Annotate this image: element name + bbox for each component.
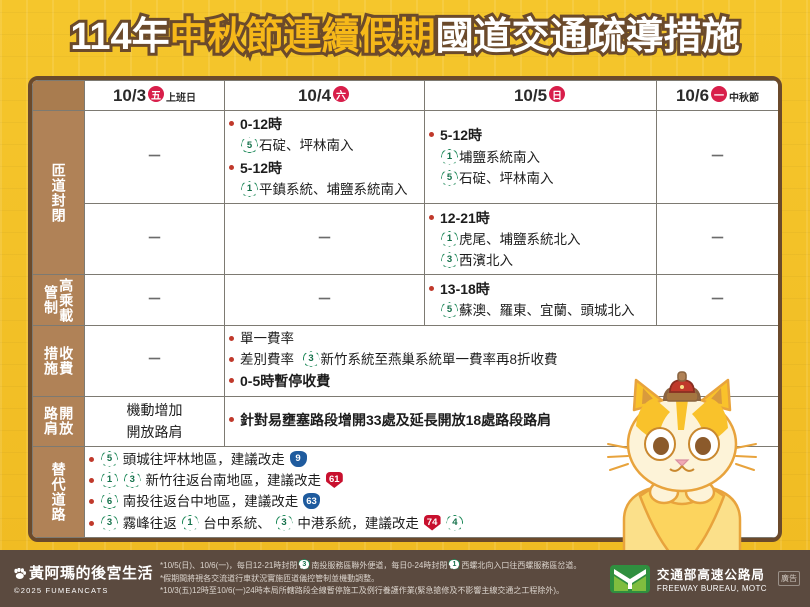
agency-text: 交通部高速公路局 FREEWAY BUREAU, MOTC: [657, 564, 767, 593]
provincial-badge-63-icon: 63: [303, 493, 320, 509]
table-row-ramp-closure-2: － － 12-21時 1虎尾、埔鹽系統北入 3西濱北入 －: [33, 204, 779, 275]
provincial-badge-9-icon: 9: [290, 451, 307, 467]
freeway-badge-3-icon: 3: [303, 351, 320, 367]
cell-r6-merged: 5 頭城往坪林地區，建議改走 9 1 3 新竹往返台南地區，建議改走 61 6 …: [85, 446, 779, 537]
footnote-1-part-3: 西螺北向入口往西螺服務區岔道。: [461, 561, 581, 570]
column-header-10-5: 10/5日: [425, 81, 657, 111]
list-item: 12-21時: [429, 208, 652, 229]
header-date: 10/4: [298, 86, 331, 105]
row-label-text-secondary: 措施: [44, 346, 58, 376]
footnote-1: *10/5(日)、10/6(一)，每日12-21時封閉3南投服務區聯外便道，每日…: [160, 559, 604, 573]
list-item: 1平鎮系統、埔鹽系統南入: [229, 180, 420, 200]
cell-r4-merged: 單一費率 差別費率 3新竹系統至燕巢系統單一費率再8折收費 0-5時暫停收費: [225, 325, 779, 396]
brand-block: 黃阿瑪的後宮生活 ©2025 FUMEANCATS: [0, 562, 160, 595]
cell-r3-10-4: －: [225, 275, 425, 325]
freeway-bureau-logo-icon: [610, 565, 650, 593]
freeway-badge-3-icon: 3: [276, 515, 293, 531]
table-corner-cell: [33, 81, 85, 111]
list-item: 5石碇、坪林南入: [429, 169, 652, 189]
shoulder-text: 針對易壅塞路段增開33處及延長開放18處路段路肩: [240, 412, 551, 428]
freeway-badge-3-icon: 3: [298, 559, 310, 570]
row-label-text-primary: 高乘載: [59, 278, 73, 323]
cell-r4-10-3: －: [85, 325, 225, 396]
ad-tag-badge: 廣告: [778, 571, 800, 586]
footnotes: *10/5(日)、10/6(一)，每日12-21時封閉3南投服務區聯外便道，每日…: [160, 559, 610, 599]
freeway-badge-3-icon: 3: [124, 472, 141, 488]
header-date: 10/6: [676, 86, 709, 105]
time-range: 5-12時: [440, 127, 482, 143]
title-part-measures: 國道交通疏導措施: [436, 16, 740, 58]
expressway-badge-74-icon: 74: [424, 515, 441, 531]
table-row-toll-measures: 收費 措施 － 單一費率 差別費率 3新竹系統至燕巢系統單一費率再8折收費 0-…: [33, 325, 779, 396]
route-text-mid-2: 中港系統，建議改走: [297, 516, 419, 531]
row-label-hov-control: 高乘載 管制: [33, 275, 85, 325]
time-range: 13-18時: [440, 281, 490, 297]
ramp-text: 平鎮系統、埔鹽系統南入: [259, 182, 408, 197]
item-list: 針對易壅塞路段增開33處及延長開放18處路段路肩: [229, 410, 774, 431]
cell-r1-10-4: 0-12時 5石碇、坪林南入 5-12時 1平鎮系統、埔鹽系統南入: [225, 111, 425, 204]
row-label-text: 替代道路: [51, 462, 65, 522]
item-list: 5-12時 1埔鹽系統南入 5石碇、坪林南入: [429, 125, 652, 189]
header-note: 中秋節: [729, 93, 759, 104]
cell-r2-10-3: －: [85, 204, 225, 275]
item-list: 單一費率 差別費率 3新竹系統至燕巢系統單一費率再8折收費 0-5時暫停收費: [229, 329, 774, 393]
cell-r1-10-6: －: [657, 111, 779, 204]
route-text-mid-1: 台中系統、: [203, 516, 271, 531]
footnote-1-part-2: 南投服務區聯外便道，每日0-24時封閉: [311, 561, 447, 570]
table-header-row: 10/3五上班日 10/4六 10/5日 10/6一中秋節: [33, 81, 779, 111]
table-row-hov-control: 高乘載 管制 － － 13-18時 5蘇澳、羅東、宜蘭、頭城北入 －: [33, 275, 779, 325]
item-list: 0-12時 5石碇、坪林南入 5-12時 1平鎮系統、埔鹽系統南入: [229, 114, 420, 200]
day-circle-icon: 日: [549, 86, 565, 102]
header-date: 10/5: [514, 86, 547, 105]
list-item: 13-18時: [429, 279, 652, 300]
item-list: 12-21時 1虎尾、埔鹽系統北入 3西濱北入: [429, 208, 652, 272]
day-circle-icon: 五: [148, 86, 164, 102]
toll-text: 單一費率: [240, 331, 294, 346]
freeway-badge-3-icon: 3: [101, 515, 118, 531]
freeway-badge-1-icon: 1: [441, 231, 458, 247]
cell-r3-10-6: －: [657, 275, 779, 325]
list-item: 針對易壅塞路段增開33處及延長開放18處路段路肩: [229, 410, 774, 431]
list-item: 單一費率: [229, 329, 774, 349]
list-item: 1 3 新竹往返台南地區，建議改走 61: [89, 471, 774, 491]
header-date: 10/3: [113, 86, 146, 105]
list-item: 5石碇、坪林南入: [229, 136, 420, 156]
cell-r5-merged: 針對易壅塞路段增開33處及延長開放18處路段路肩: [225, 396, 779, 446]
cell-r1-10-5: 5-12時 1埔鹽系統南入 5石碇、坪林南入: [425, 111, 657, 204]
brand-name: 黃阿瑪的後宮生活: [14, 562, 160, 583]
page-title: 114年中秋節連續假期國道交通疏導措施: [0, 18, 810, 56]
toll-text: 差別費率: [240, 352, 294, 367]
route-text: 南投往返台中地區，建議改走: [123, 494, 299, 509]
freeway-badge-1-icon: 1: [448, 559, 460, 570]
footnote-1-part-1: *10/5(日)、10/6(一)，每日12-21時封閉: [160, 561, 297, 570]
list-item: 1虎尾、埔鹽系統北入: [429, 230, 652, 250]
measures-table: 10/3五上班日 10/4六 10/5日 10/6一中秋節 匝道封閉 － 0-1…: [32, 80, 779, 538]
agency-block: 交通部高速公路局 FREEWAY BUREAU, MOTC 廣告: [610, 564, 810, 593]
ramp-text: 蘇澳、羅東、宜蘭、頭城北入: [459, 303, 635, 318]
footnote-3: *10/3(五)12時至10/6(一)24時本局所轄路段全線暫停施工及例行養護作…: [160, 585, 604, 598]
freeway-badge-6-icon: 6: [101, 493, 118, 509]
measures-table-board: 10/3五上班日 10/4六 10/5日 10/6一中秋節 匝道封閉 － 0-1…: [28, 76, 782, 542]
agency-name-cn: 交通部高速公路局: [657, 564, 767, 583]
route-text: 頭城往坪林地區，建議改走: [123, 452, 285, 467]
toll-discount-text: 新竹系統至燕巢系統單一費率再8折收費: [321, 352, 558, 367]
table-row-ramp-closure-1: 匝道封閉 － 0-12時 5石碇、坪林南入 5-12時 1平鎮系統、埔鹽系統南入…: [33, 111, 779, 204]
cell-r2-10-5: 12-21時 1虎尾、埔鹽系統北入 3西濱北入: [425, 204, 657, 275]
time-range: 12-21時: [440, 210, 490, 226]
ramp-text: 石碇、坪林南入: [459, 171, 554, 186]
list-item: 1埔鹽系統南入: [429, 148, 652, 168]
route-text: 霧峰往返: [123, 516, 177, 531]
footnote-2: *假期間將視各交流道行車狀況實施匝道儀控管制並機動調整。: [160, 573, 604, 586]
column-header-10-3: 10/3五上班日: [85, 81, 225, 111]
ramp-text: 虎尾、埔鹽系統北入: [459, 232, 581, 247]
list-item: 5 頭城往坪林地區，建議改走 9: [89, 450, 774, 470]
row-label-text-primary: 開放: [59, 406, 73, 436]
row-label-text: 匝道封閉: [51, 163, 65, 223]
row-label-shoulder-open: 開放 路肩: [33, 396, 85, 446]
column-header-10-6: 10/6一中秋節: [657, 81, 779, 111]
list-item: 5-12時: [429, 125, 652, 146]
row-label-text-secondary: 管制: [44, 285, 58, 315]
expressway-badge-61-icon: 61: [326, 472, 343, 488]
column-header-10-4: 10/4六: [225, 81, 425, 111]
toll-free-text: 0-5時暫停收費: [240, 373, 330, 389]
table-row-alternate-routes: 替代道路 5 頭城往坪林地區，建議改走 9 1 3 新竹往返台南地區，建議改走 …: [33, 446, 779, 537]
list-item: 0-12時: [229, 114, 420, 135]
row-label-ramp-closure: 匝道封閉: [33, 111, 85, 275]
shoulder-line-1: 機動增加: [89, 399, 220, 421]
freeway-badge-5-icon: 5: [101, 451, 118, 467]
cell-r2-10-6: －: [657, 204, 779, 275]
freeway-badge-1-icon: 1: [441, 149, 458, 165]
time-range: 5-12時: [240, 160, 282, 176]
list-item: 5蘇澳、羅東、宜蘭、頭城北入: [429, 301, 652, 321]
list-item: 3 霧峰往返 1 台中系統、 3 中港系統，建議改走 74 4: [89, 514, 774, 534]
table-row-shoulder-open: 開放 路肩 機動增加 開放路肩 針對易壅塞路段增開33處及延長開放18處路段路肩: [33, 396, 779, 446]
time-range: 0-12時: [240, 116, 282, 132]
cell-r5-10-3: 機動增加 開放路肩: [85, 396, 225, 446]
cell-r2-10-4: －: [225, 204, 425, 275]
list-item: 5-12時: [229, 158, 420, 179]
cell-r3-10-5: 13-18時 5蘇澳、羅東、宜蘭、頭城北入: [425, 275, 657, 325]
list-item: 3西濱北入: [429, 251, 652, 271]
brand-name-text: 黃阿瑪的後宮生活: [29, 565, 153, 582]
freeway-badge-5-icon: 5: [441, 170, 458, 186]
item-list: 5 頭城往坪林地區，建議改走 9 1 3 新竹往返台南地區，建議改走 61 6 …: [89, 450, 774, 534]
row-label-text-secondary: 路肩: [44, 406, 58, 436]
shoulder-line-2: 開放路肩: [89, 421, 220, 443]
row-label-toll-measures: 收費 措施: [33, 325, 85, 396]
ramp-text: 埔鹽系統南入: [459, 150, 540, 165]
freeway-badge-1-icon: 1: [182, 515, 199, 531]
list-item: 差別費率 3新竹系統至燕巢系統單一費率再8折收費: [229, 350, 774, 370]
freeway-badge-5-icon: 5: [241, 137, 258, 153]
footer-bar: 黃阿瑪的後宮生活 ©2025 FUMEANCATS *10/5(日)、10/6(…: [0, 550, 810, 607]
row-label-text-primary: 收費: [59, 346, 73, 376]
day-circle-icon: 六: [333, 86, 349, 102]
item-list: 13-18時 5蘇澳、羅東、宜蘭、頭城北入: [429, 279, 652, 322]
cell-r1-10-3: －: [85, 111, 225, 204]
list-item: 0-5時暫停收費: [229, 371, 774, 392]
freeway-badge-1-icon: 1: [241, 181, 258, 197]
ramp-text: 西濱北入: [459, 253, 513, 268]
agency-name-en: FREEWAY BUREAU, MOTC: [657, 584, 767, 593]
freeway-badge-3-icon: 3: [441, 252, 458, 268]
freeway-badge-5-icon: 5: [441, 302, 458, 318]
ramp-text: 石碇、坪林南入: [259, 138, 354, 153]
title-part-festival: 中秋節連續假期: [170, 16, 436, 58]
title-part-year: 114年: [70, 16, 169, 58]
row-label-alternate-routes: 替代道路: [33, 446, 85, 537]
route-text: 新竹往返台南地區，建議改走: [146, 473, 322, 488]
freeway-badge-4-icon: 4: [446, 515, 463, 531]
brand-copyright: ©2025 FUMEANCATS: [14, 586, 160, 595]
header-note: 上班日: [166, 93, 196, 104]
day-circle-icon: 一: [711, 86, 727, 102]
cell-r3-10-3: －: [85, 275, 225, 325]
freeway-badge-1-icon: 1: [101, 472, 118, 488]
list-item: 6 南投往返台中地區，建議改走 63: [89, 492, 774, 512]
paw-icon: [14, 568, 26, 579]
